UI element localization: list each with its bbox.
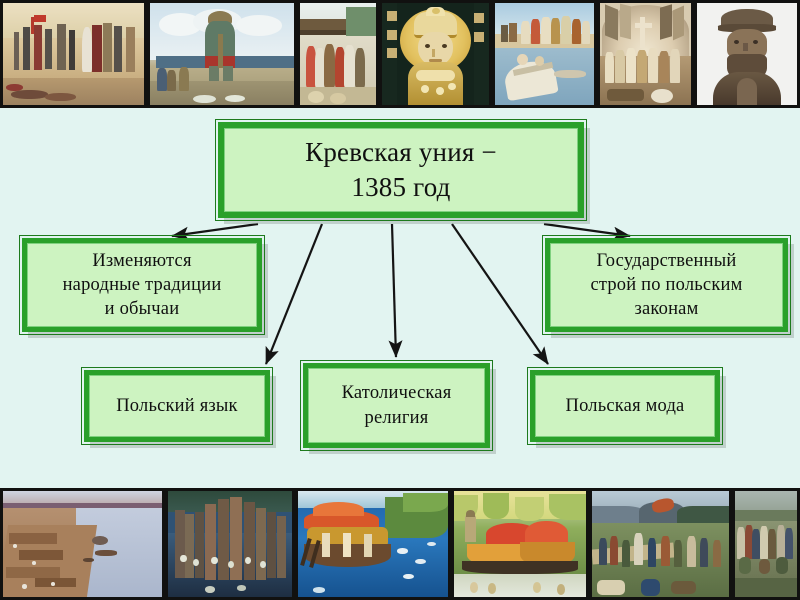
gathering-on-hillside-artwork [592,491,729,597]
thumbnail-slavic-settlement-river-painting [0,488,165,600]
node-title-line-2: 1385 год [232,170,570,205]
node-state-line-3: законам [558,297,775,321]
princess-olga-icon-artwork [382,3,489,105]
prince-bust-artwork [697,3,797,105]
wooden-fortress-artwork [168,491,292,597]
slavic-settlement-artwork [3,491,162,597]
arrow-title-to-language [266,224,322,364]
arrow-title-to-religion [392,224,396,357]
guests-from-overseas-artwork [298,491,448,597]
thumbnail-crowd-by-the-water-painting [732,488,800,600]
node-religion-line-2: религия [316,406,477,430]
thumbnail-boats-at-shore-painting [451,488,589,600]
node-title-line-1: Кревская уния − [232,135,570,170]
thumbnail-village-market-painting [297,0,379,108]
node-polish-fashion[interactable]: Польская мода [530,370,720,442]
node-religion-line-1: Католическая [316,381,477,405]
tribute-gathering-artwork [3,3,144,105]
node-traditions[interactable]: Изменяются народные традиции и обычаи [22,238,262,332]
node-language-line-1: Польский язык [97,394,257,418]
thumbnail-guests-from-overseas-painting [295,488,451,600]
thumbnail-prince-bust-sculpture [694,0,800,108]
church-procession-artwork [600,3,691,105]
node-state-text: Государственный строй по польским закона… [550,247,783,323]
node-traditions-text: Изменяются народные традиции и обычаи [27,247,257,323]
top-image-strip [0,0,800,108]
thumbnail-warrior-at-crossroads-painting [147,0,297,108]
warrior-at-crossroads-artwork [150,3,294,105]
thumbnail-church-procession-painting [597,0,694,108]
node-traditions-line-1: Изменяются [35,249,249,273]
node-catholic-religion[interactable]: Католическая религия [303,363,490,448]
node-fashion-line-1: Польская мода [543,394,707,418]
node-title-krevo-union[interactable]: Кревская уния − 1385 год [218,122,584,218]
bottom-image-strip [0,488,800,600]
node-polish-language[interactable]: Польский язык [84,370,270,442]
thumbnail-gathering-on-hillside-painting [589,488,732,600]
thumbnail-wooden-fortress-painting [165,488,295,600]
node-state-line-2: строй по польским [558,273,775,297]
diagram-area: Кревская уния − 1385 год Изменяются наро… [0,108,800,488]
village-market-artwork [300,3,376,105]
node-fashion-text: Польская мода [535,392,715,420]
thumbnail-princess-olga-icon [379,0,492,108]
thumbnail-baptism-of-rus-painting [492,0,597,108]
crowd-by-the-water-artwork [735,491,797,597]
node-state-line-1: Государственный [558,249,775,273]
arrow-title-to-state [544,224,630,236]
arrow-title-to-traditions [172,224,258,236]
node-traditions-line-3: и обычаи [35,297,249,321]
node-title-text: Кревская уния − 1385 год [224,133,578,207]
arrow-title-to-fashion [452,224,548,364]
baptism-of-rus-artwork [495,3,594,105]
boats-at-shore-artwork [454,491,586,597]
node-traditions-line-2: народные традиции [35,273,249,297]
node-religion-text: Католическая религия [308,379,485,431]
node-state-structure[interactable]: Государственный строй по польским закона… [545,238,788,332]
thumbnail-tribute-gathering-painting [0,0,147,108]
node-language-text: Польский язык [89,392,265,420]
